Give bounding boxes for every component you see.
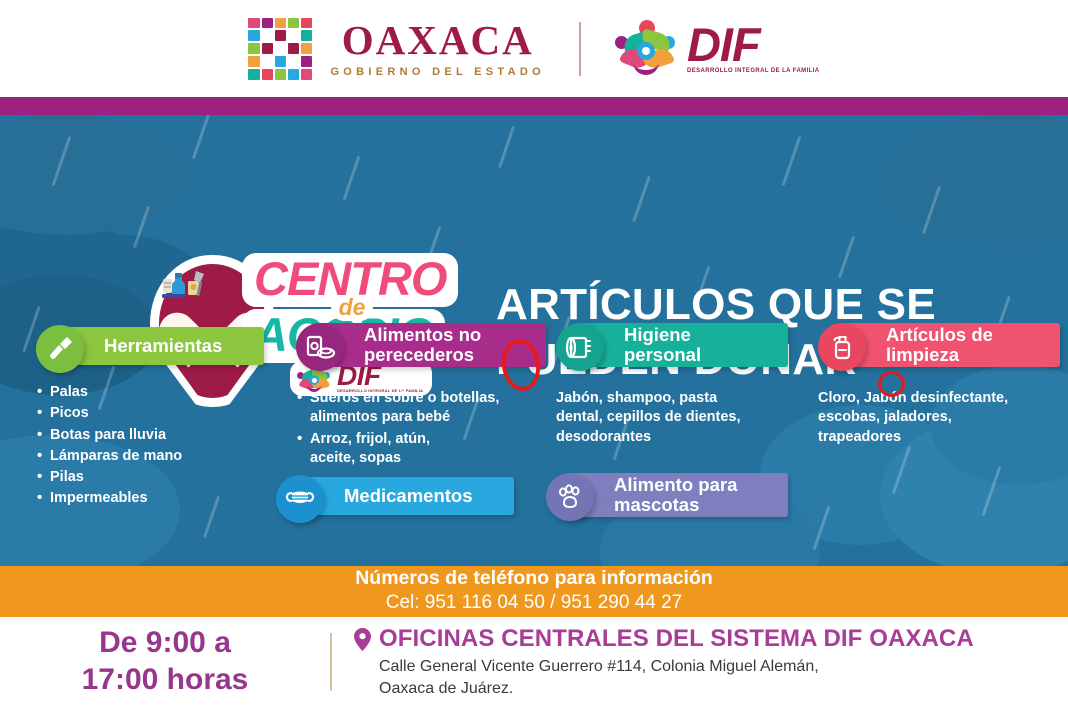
flashlight-icon: [36, 325, 84, 373]
category-higiene-personal: Higiene personal Jabón, shampoo, pasta d…: [556, 323, 806, 447]
main-blue-panel: CENTRO de ACOPIO: [0, 115, 1068, 566]
spray-bottle-icon: [818, 323, 866, 371]
poster-root: OAXACA GOBIERNO DEL ESTADO: [0, 0, 1068, 707]
phone-band-title: Números de teléfono para información: [355, 568, 713, 589]
rain-streak: [343, 156, 361, 200]
paw-print-icon: [546, 473, 594, 521]
header-divider: [579, 22, 581, 76]
page-header: OAXACA GOBIERNO DEL ESTADO: [0, 0, 1068, 97]
logo-word-de: de: [339, 294, 366, 320]
category-description: Cloro, Jabón desinfectante, escobas, jal…: [818, 389, 1058, 447]
list-item: Sueros en sobre o botellas, alimentos pa…: [296, 389, 546, 428]
dif-tagline: DESARROLLO INTEGRAL DE LA FAMILIA: [687, 68, 820, 74]
phone-info-band: Números de teléfono para información Cel…: [0, 566, 1068, 617]
list-item: Picos: [36, 404, 276, 423]
page-footer: De 9:00 a 17:00 horas OFICINAS CENTRALES…: [0, 617, 1068, 707]
toilet-paper-icon: [556, 323, 604, 371]
rain-streak: [838, 236, 855, 279]
list-item: Arroz, frijol, atún, aceite, sopas: [296, 430, 546, 469]
list-item: Lámparas de mano: [36, 447, 276, 466]
category-label: Artículos de limpieza: [886, 325, 993, 364]
oaxaca-mosaic-icon: [248, 18, 312, 80]
oaxaca-wordmark: OAXACA: [342, 20, 534, 61]
phone-numbers[interactable]: Cel: 951 116 04 50 / 951 290 44 27: [386, 591, 683, 615]
oaxaca-subtitle: GOBIERNO DEL ESTADO: [330, 66, 545, 78]
category-herramientas: Herramientas Palas Picos Botas para lluv…: [36, 327, 276, 511]
magenta-divider-rule: [0, 97, 1068, 115]
category-label: Higiene personal: [624, 325, 701, 364]
category-label: Herramientas: [104, 336, 222, 356]
category-label: Alimentos no perecederos: [364, 325, 481, 364]
category-description: Jabón, shampoo, pasta dental, cepillos d…: [556, 389, 806, 447]
dif-wordmark: DIF: [687, 23, 820, 66]
rain-streak: [192, 115, 211, 159]
dif-flower-icon: [615, 20, 677, 78]
category-label: Alimento para mascotas: [614, 475, 737, 514]
rain-streak: [782, 136, 802, 186]
list-item: Impermeables: [36, 489, 276, 508]
office-address: Calle General Vicente Guerrero #114, Col…: [379, 656, 974, 698]
category-alimentos-no-perecederos: Alimentos no perecederos Sueros en sobre…: [296, 323, 546, 470]
list-item: Palas: [36, 383, 276, 402]
category-label: Medicamentos: [344, 486, 473, 506]
donation-goods-icon: [162, 269, 208, 301]
category-item-list: Sueros en sobre o botellas, alimentos pa…: [296, 389, 546, 468]
category-articulos-de-limpieza: Artículos de limpieza Cloro, Jabón desin…: [818, 323, 1058, 447]
rain-streak: [632, 176, 650, 222]
cloud-shape: [880, 115, 1068, 245]
rain-streak: [498, 126, 515, 169]
location-pin-icon: [354, 628, 371, 651]
face-mask-icon: [276, 475, 324, 523]
category-medicamentos: Medicamentos: [276, 477, 526, 519]
cloud-shape: [0, 115, 190, 235]
list-item: Botas para lluvia: [36, 426, 276, 445]
canned-food-icon: [296, 323, 344, 371]
opening-hours: De 9:00 a 17:00 horas: [0, 625, 330, 698]
category-item-list: Palas Picos Botas para lluvia Lámparas d…: [36, 383, 276, 509]
office-title: OFICINAS CENTRALES DEL SISTEMA DIF OAXAC…: [379, 625, 974, 653]
category-alimento-para-mascotas: Alimento para mascotas: [546, 473, 796, 521]
list-item: Pilas: [36, 468, 276, 487]
